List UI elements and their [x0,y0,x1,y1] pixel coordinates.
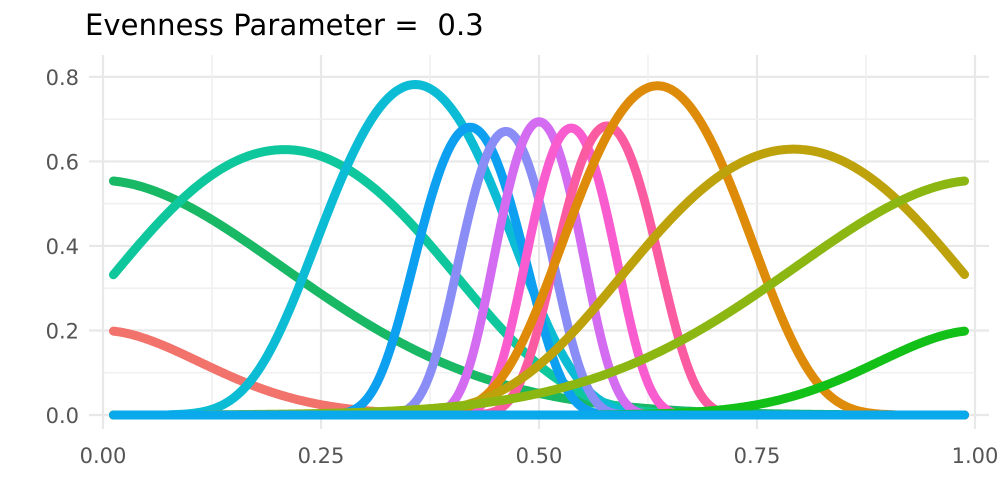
y-tick-label: 0.0 [46,404,79,428]
x-tick-label: 0.00 [80,444,127,468]
y-tick-label: 0.4 [46,235,79,259]
plot-area: 0.00.20.40.60.8 0.000.250.500.751.00 [0,0,1000,500]
y-tick-label: 0.6 [46,150,79,174]
x-axis-tick-labels: 0.000.250.500.751.00 [80,444,999,468]
y-tick-label: 0.8 [46,66,79,90]
y-tick-label: 0.2 [46,319,79,343]
x-tick-label: 0.50 [516,444,563,468]
chart-figure: Evenness Parameter = 0.3 0.00.20.40.60.8… [0,0,1000,500]
x-tick-label: 0.75 [734,444,781,468]
y-axis-tick-labels: 0.00.20.40.60.8 [46,66,79,428]
x-tick-label: 0.25 [298,444,345,468]
x-tick-label: 1.00 [952,444,999,468]
